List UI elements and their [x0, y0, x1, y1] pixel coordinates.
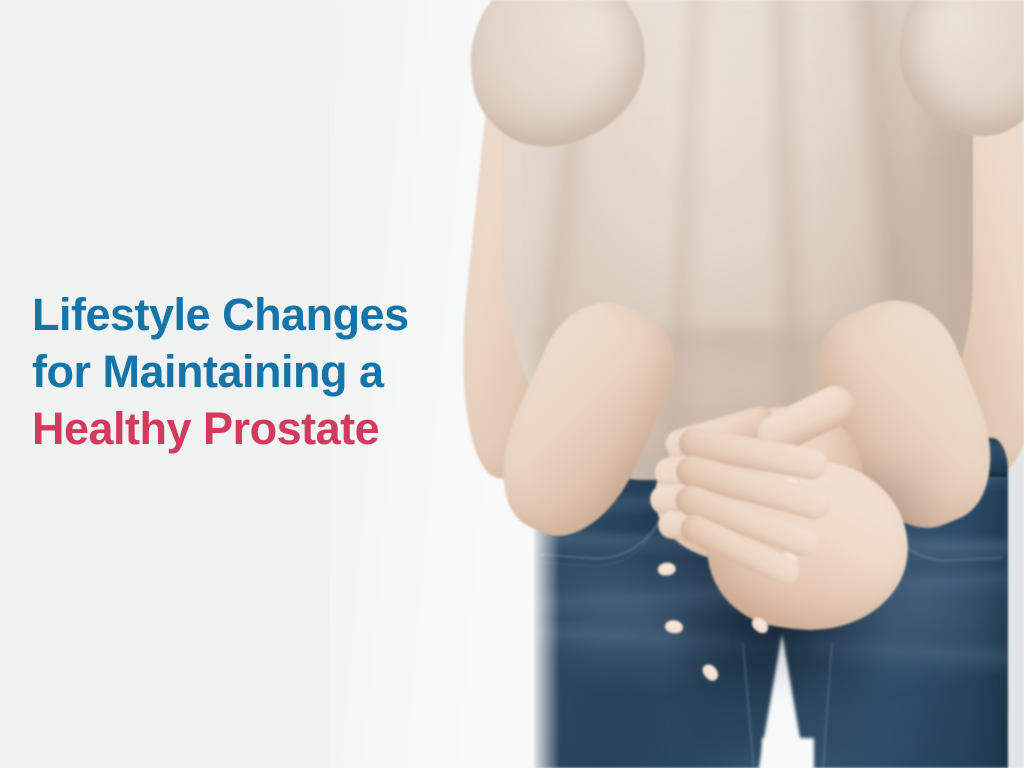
headline-line-2: for Maintaining a [32, 343, 492, 400]
headline-line-1: Lifestyle Changes [32, 286, 492, 343]
clasped-hands [648, 408, 898, 658]
leg-gap-lower [762, 738, 814, 768]
banner-headline: Lifestyle Changes for Maintaining a Heal… [32, 286, 492, 457]
headline-line-3: Healthy Prostate [32, 400, 492, 457]
back-hand-nail-4 [664, 619, 684, 634]
prostate-health-banner: Lifestyle Changes for Maintaining a Heal… [0, 0, 1024, 768]
back-hand-nail-3 [657, 562, 676, 577]
